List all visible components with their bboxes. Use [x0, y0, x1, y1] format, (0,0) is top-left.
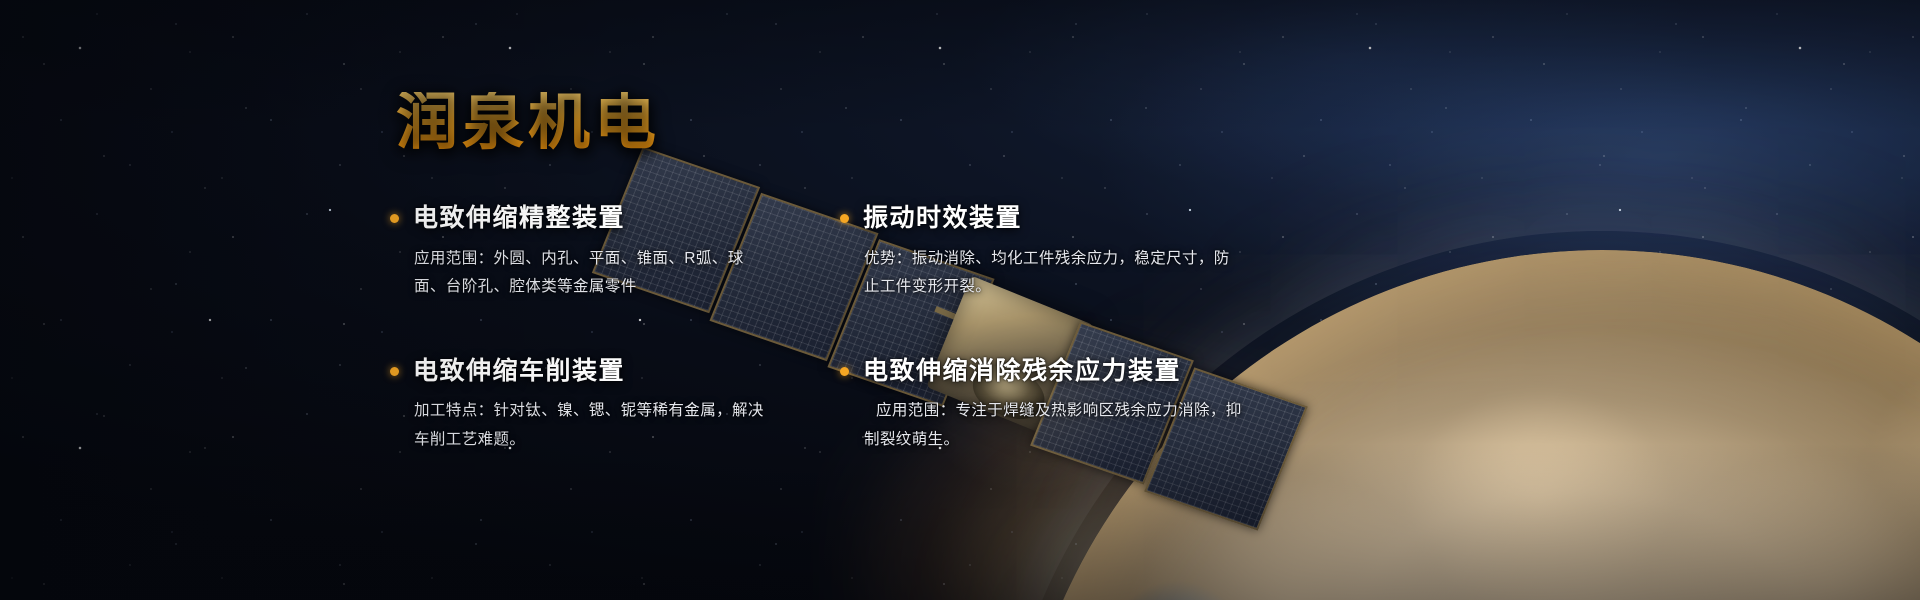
- feature-item-4[interactable]: 电致伸缩消除残余应力装置 应用范围：专注于焊缝及热影响区残余应力消除，抑制裂纹萌…: [840, 358, 1320, 455]
- feature-1-head: 电致伸缩精整装置: [390, 205, 810, 233]
- hero-banner: 润泉机电 电致伸缩精整装置 应用范围：外圆、内孔、平面、锥面、R弧、球面、台阶孔…: [0, 0, 1920, 600]
- bullet-dot-icon: [390, 214, 399, 223]
- feature-3-description: 加工特点：针对钛、镍、锶、铌等稀有金属，解决车削工艺难题。: [390, 397, 774, 454]
- feature-grid: 电致伸缩精整装置 应用范围：外圆、内孔、平面、锥面、R弧、球面、台阶孔、腔体类等…: [390, 205, 1400, 455]
- feature-item-2[interactable]: 振动时效装置 优势：振动消除、均化工件残余应力，稳定尺寸，防止工件变形开裂。: [840, 205, 1320, 302]
- feature-1-description: 应用范围：外圆、内孔、平面、锥面、R弧、球面、台阶孔、腔体类等金属零件: [390, 245, 774, 302]
- feature-4-head: 电致伸缩消除残余应力装置: [840, 358, 1320, 386]
- feature-1-title: 电致伸缩精整装置: [413, 205, 625, 233]
- feature-4-description: 应用范围：专注于焊缝及热影响区残余应力消除，抑制裂纹萌生。: [840, 397, 1244, 454]
- feature-3-head: 电致伸缩车削装置: [390, 358, 810, 386]
- feature-item-3[interactable]: 电致伸缩车削装置 加工特点：针对钛、镍、锶、铌等稀有金属，解决车削工艺难题。: [390, 358, 810, 455]
- feature-4-title: 电致伸缩消除残余应力装置: [863, 358, 1181, 386]
- feature-2-title: 振动时效装置: [863, 205, 1022, 233]
- bullet-dot-icon: [390, 367, 399, 376]
- brand-title: 润泉机电: [396, 92, 660, 154]
- bullet-dot-icon: [840, 367, 849, 376]
- bullet-dot-icon: [840, 214, 849, 223]
- feature-item-1[interactable]: 电致伸缩精整装置 应用范围：外圆、内孔、平面、锥面、R弧、球面、台阶孔、腔体类等…: [390, 205, 810, 302]
- feature-2-head: 振动时效装置: [840, 205, 1320, 233]
- feature-3-title: 电致伸缩车削装置: [413, 358, 625, 386]
- banner-content: 润泉机电 电致伸缩精整装置 应用范围：外圆、内孔、平面、锥面、R弧、球面、台阶孔…: [0, 0, 1920, 600]
- feature-2-description: 优势：振动消除、均化工件残余应力，稳定尺寸，防止工件变形开裂。: [840, 245, 1244, 302]
